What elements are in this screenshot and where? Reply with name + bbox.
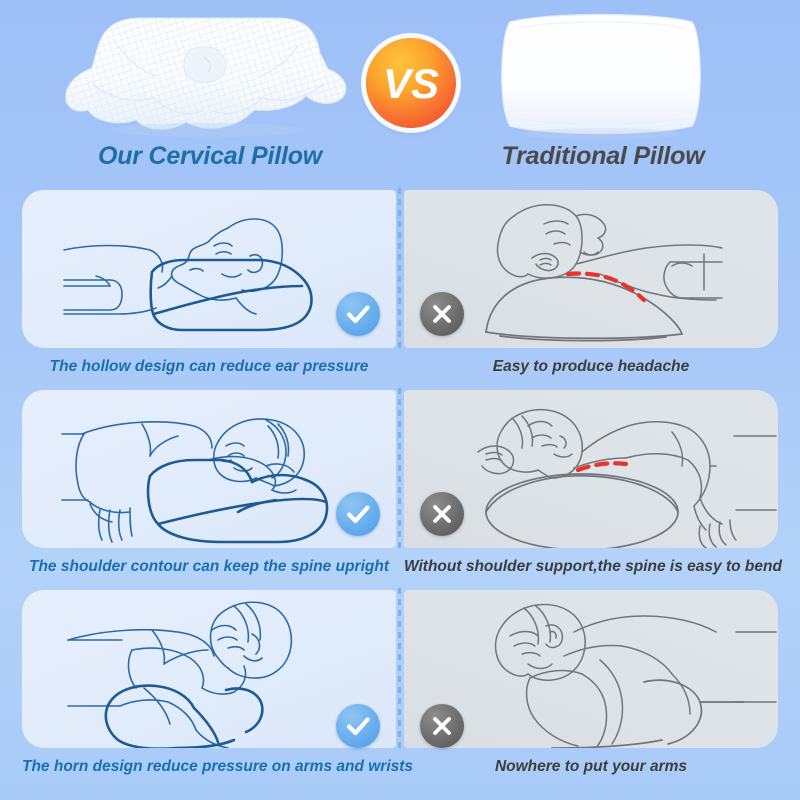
caption-good-3: The horn design reduce pressure on arms …: [22, 752, 396, 782]
caption-bad-3: Nowhere to put your arms: [404, 752, 778, 782]
comparison-row-1: The hollow design can reduce ear pressur…: [0, 186, 800, 386]
vs-badge: VS: [366, 38, 456, 128]
traditional-pillow-image: [492, 4, 710, 144]
status-badge-bad-2: [420, 492, 464, 536]
status-badge-good-1: [336, 292, 380, 336]
hero-section: VS Our Cervical Pillow Traditional Pillo…: [0, 0, 800, 185]
caption-bad-1: Easy to produce headache: [404, 352, 778, 382]
status-badge-bad-3: [420, 704, 464, 748]
status-badge-good-2: [336, 492, 380, 536]
cervical-pillow-image: [58, 6, 358, 141]
label-traditional-pillow: Traditional Pillow: [478, 142, 728, 171]
caption-good-1: The hollow design can reduce ear pressur…: [22, 352, 396, 382]
check-circle-icon: [343, 499, 373, 529]
status-badge-good-3: [336, 704, 380, 748]
row-divider-1: [398, 188, 401, 350]
svg-text:VS: VS: [383, 60, 439, 107]
caption-bad-2: Without shoulder support,the spine is ea…: [404, 552, 778, 582]
check-circle-icon: [343, 299, 373, 329]
x-circle-icon: [427, 711, 457, 741]
row-divider-3: [398, 588, 401, 750]
status-badge-bad-1: [420, 292, 464, 336]
label-our-cervical-pillow: Our Cervical Pillow: [60, 142, 360, 171]
hero-label-row: Our Cervical Pillow Traditional Pillow: [0, 142, 800, 186]
vs-badge-icon: VS: [374, 46, 448, 120]
caption-good-2: The shoulder contour can keep the spine …: [22, 552, 396, 582]
comparison-row-2: The shoulder contour can keep the spine …: [0, 386, 800, 586]
check-circle-icon: [343, 711, 373, 741]
x-circle-icon: [427, 499, 457, 529]
comparison-row-3: The horn design reduce pressure on arms …: [0, 586, 800, 786]
row-divider-2: [398, 388, 401, 550]
x-circle-icon: [427, 299, 457, 329]
